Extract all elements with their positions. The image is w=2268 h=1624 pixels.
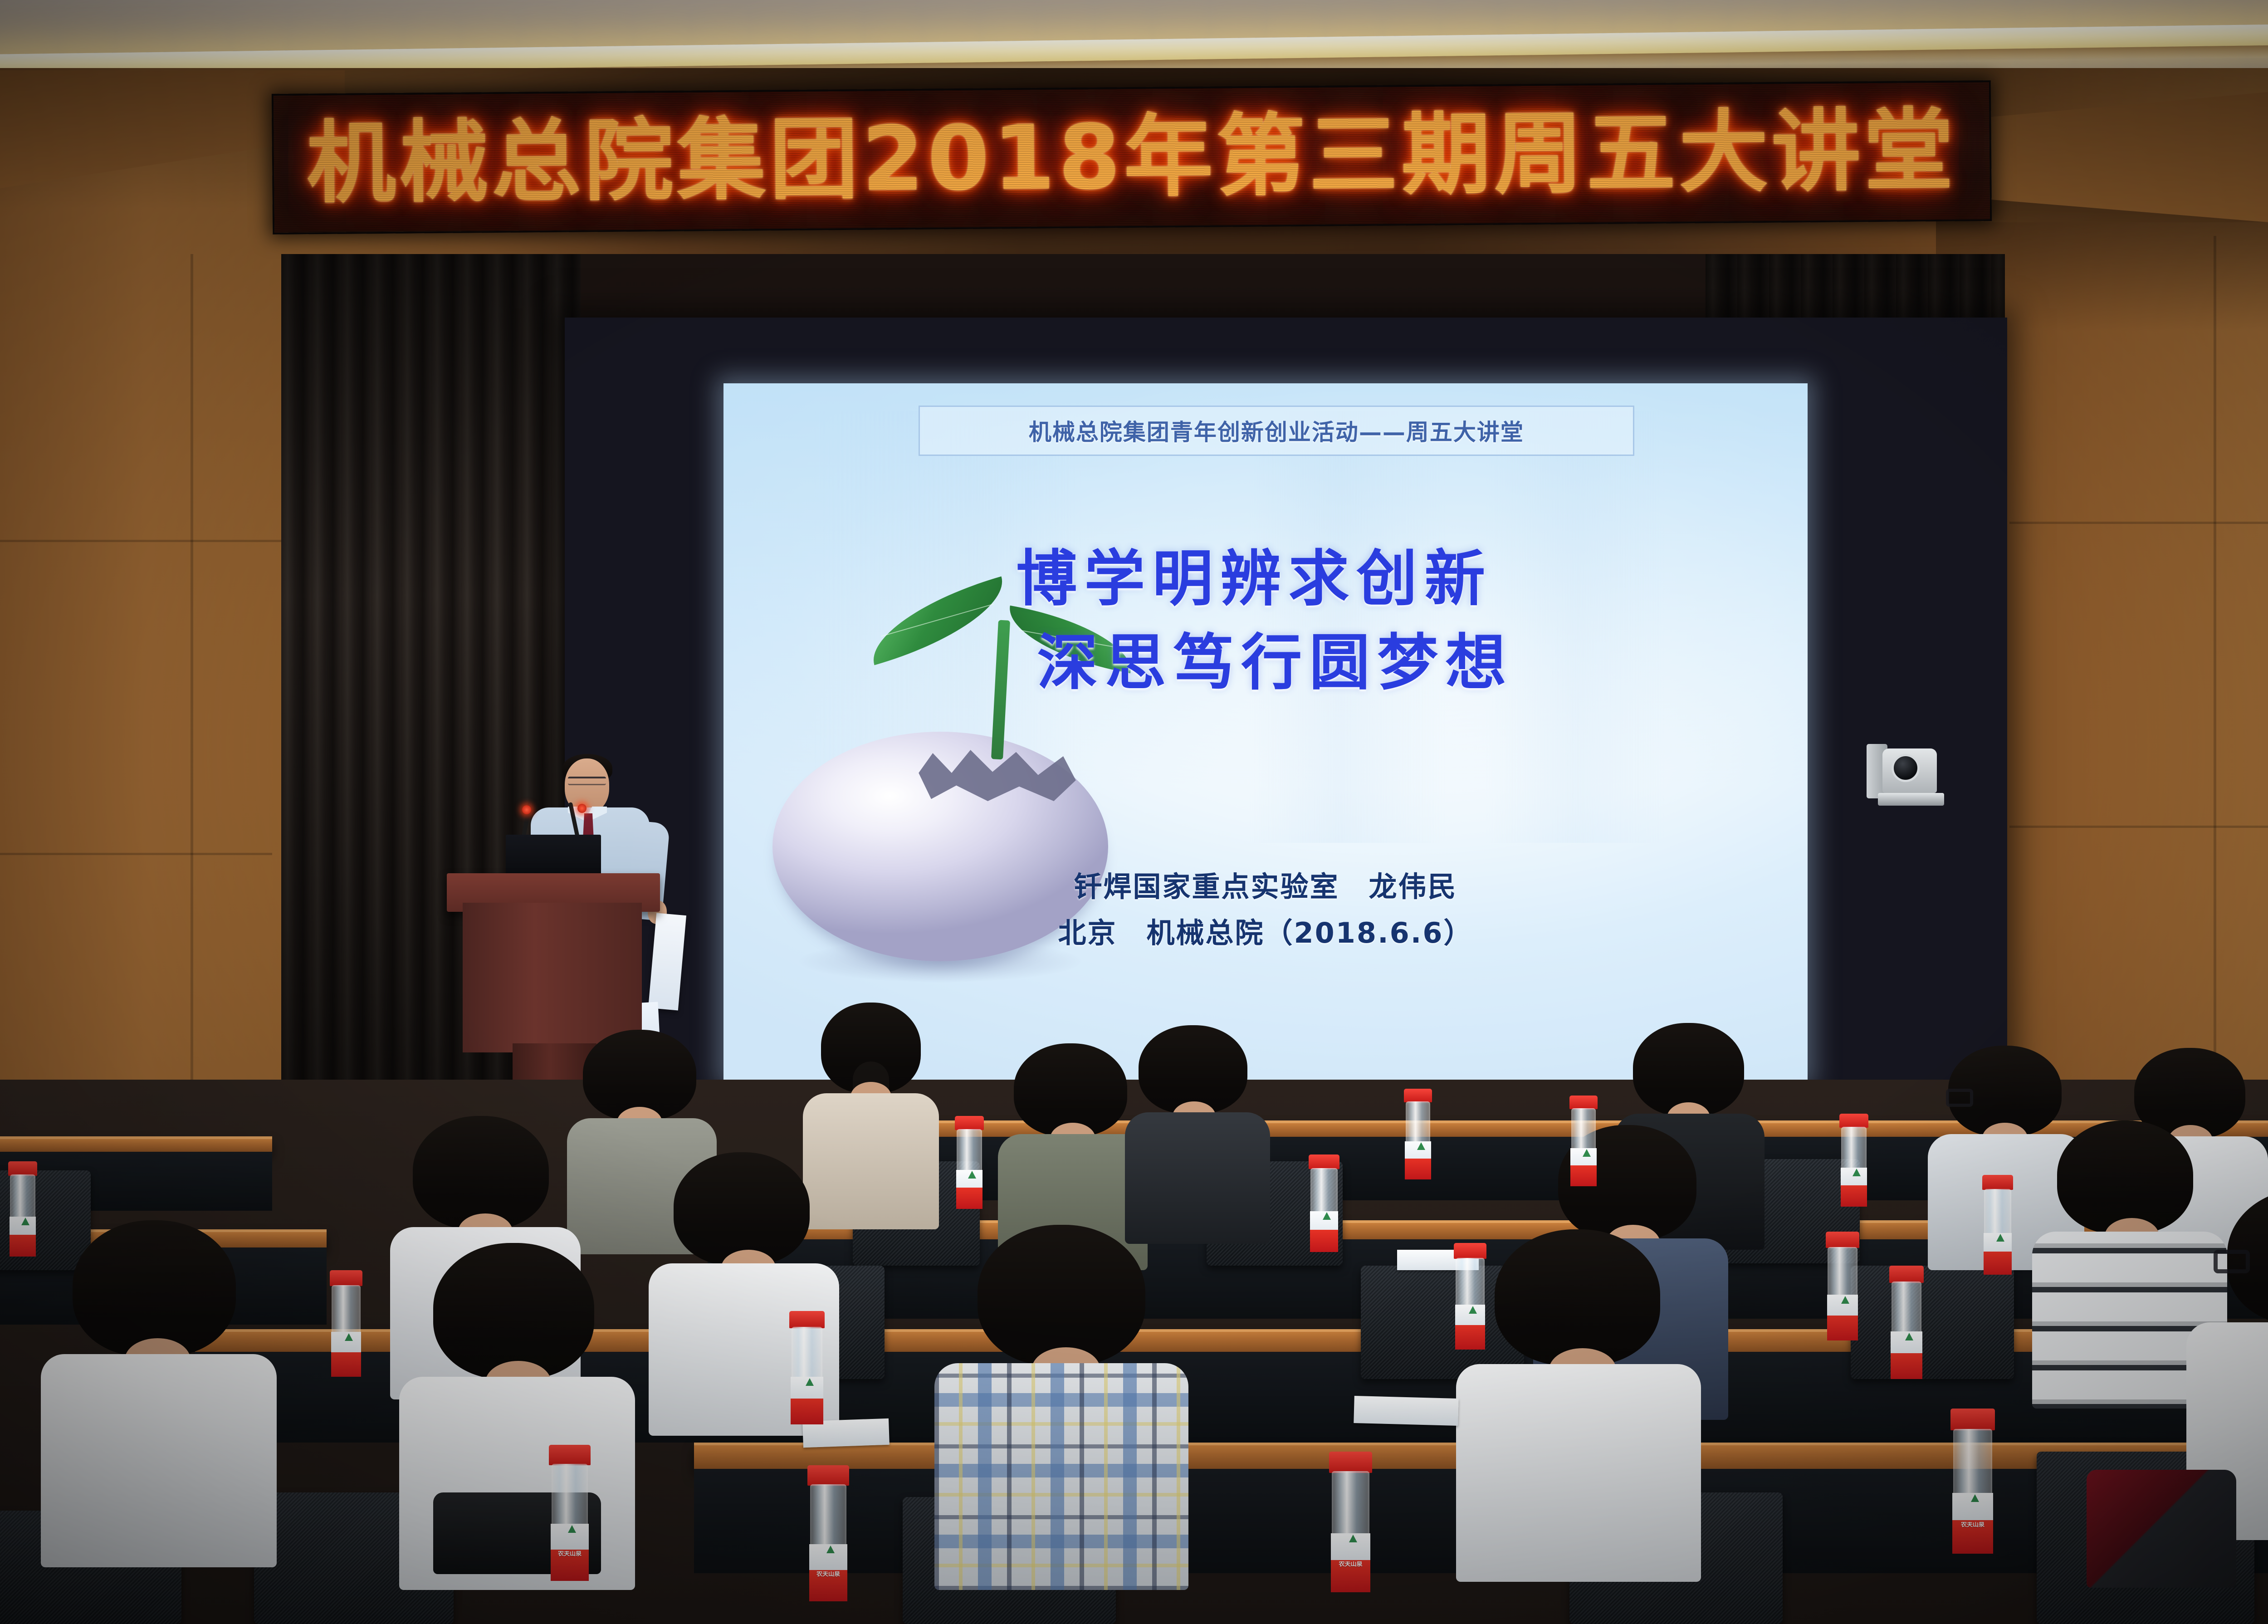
water-bottle: [1569, 1096, 1598, 1186]
bottle-label-red: [1570, 1165, 1596, 1186]
slide-footer-line-1: 钎焊国家重点实验室 龙伟民: [723, 864, 1808, 910]
mountain-logo-icon: [21, 1218, 29, 1225]
led-banner-panel: 机械总院集团2018年第三期周五大讲堂: [272, 80, 1992, 235]
bottle-label-red: [1984, 1252, 2012, 1275]
attendee-torso: [1456, 1364, 1701, 1582]
mountain-logo-icon: [968, 1171, 976, 1179]
water-bottle: [1982, 1175, 2013, 1275]
lecture-hall-scene: 机械总院集团2018年第三期周五大讲堂 机械总院集团青年创新创业活动——周五大讲…: [0, 0, 2268, 1624]
podium-body: [463, 903, 642, 1052]
wall-seam: [0, 853, 272, 855]
bottle-label-red: [1827, 1316, 1858, 1340]
bottle-label-red: [331, 1352, 361, 1377]
water-bottle: [1839, 1114, 1868, 1207]
water-bottle: [8, 1161, 37, 1257]
mountain-logo-icon: [1349, 1535, 1357, 1542]
bottle-cap: [1982, 1175, 2013, 1190]
projected-slide: 机械总院集团青年创新创业活动——周五大讲堂 博学明辨求创新 深思笃行圆梦想 钎焊…: [723, 383, 1808, 1080]
attendee-torso: [41, 1354, 277, 1567]
mountain-logo-icon: [1417, 1142, 1425, 1150]
water-bottle: [1404, 1089, 1432, 1179]
bottle-cap: [1950, 1409, 1995, 1430]
bottle-cap: [807, 1465, 849, 1486]
mountain-logo-icon: [345, 1333, 353, 1341]
bottle-label-red: [10, 1235, 36, 1257]
attendee-head: [73, 1220, 236, 1356]
bottle-cap: [1826, 1232, 1859, 1248]
microphone-led-indicator: [577, 804, 587, 813]
slide-footer-line-2: 北京 机械总院（2018.6.6）: [723, 910, 1808, 956]
water-bottle: 农夫山泉: [549, 1445, 591, 1581]
bottle-cap: [549, 1445, 591, 1465]
desk-row: [0, 1136, 272, 1152]
bottle-label-red: [1891, 1353, 1922, 1379]
slide-footer: 钎焊国家重点实验室 龙伟民 北京 机械总院（2018.6.6）: [723, 864, 1808, 957]
bottle-cap: [1889, 1266, 1924, 1283]
bottle-cap: [1569, 1096, 1598, 1109]
wall-seam: [2009, 826, 2268, 828]
mountain-logo-icon: [826, 1546, 835, 1553]
bottle-brand-label: 农夫山泉: [807, 1571, 849, 1577]
attendee-head: [413, 1116, 549, 1229]
attendee-head: [674, 1152, 810, 1266]
mountain-logo-icon: [1323, 1212, 1331, 1220]
attendee-head: [1495, 1229, 1660, 1365]
glasses-icon: [2214, 1250, 2250, 1273]
ptz-camera-base: [1878, 793, 1944, 806]
attendee-head: [978, 1225, 1145, 1365]
slide-title-line-1: 博学明辨求创新: [1016, 537, 1775, 621]
bottle-cap: [8, 1161, 37, 1176]
mountain-logo-icon: [1469, 1306, 1477, 1314]
chair[interactable]: [1851, 1266, 2014, 1379]
attendee-torso: [803, 1093, 939, 1229]
bottle-cap: [955, 1116, 984, 1130]
bottle-cap: [1309, 1154, 1339, 1169]
water-bottle: [1889, 1266, 1924, 1379]
bottle-label-red: [791, 1399, 823, 1425]
wall-seam: [2009, 522, 2268, 524]
bottle-cap: [789, 1311, 825, 1328]
microphone-led-indicator: [522, 805, 531, 814]
bottle-label-red: [1405, 1159, 1431, 1179]
paper-sheet: [1354, 1396, 1458, 1426]
mountain-logo-icon: [568, 1525, 576, 1533]
mountain-logo-icon: [1971, 1494, 1979, 1502]
mountain-logo-icon: [1853, 1169, 1861, 1176]
bottle-cap: [1329, 1452, 1372, 1473]
water-bottle: 农夫山泉: [807, 1465, 849, 1601]
camera-lens-icon: [1892, 754, 1920, 782]
mountain-logo-icon: [1905, 1333, 1913, 1340]
mountain-logo-icon: [1583, 1149, 1591, 1157]
podium-laptop: [506, 835, 601, 878]
water-bottle: [955, 1116, 984, 1209]
backpack-red: [2087, 1470, 2236, 1588]
water-bottle: [330, 1270, 362, 1377]
wall-seam: [191, 254, 193, 1098]
water-bottle: [1309, 1154, 1339, 1252]
slide-title-line-2: 深思笃行圆梦想: [1037, 621, 1775, 704]
led-banner-text: 机械总院集团2018年第三期周五大讲堂: [274, 106, 1989, 209]
slide-header-text: 机械总院集团青年创新创业活动——周五大讲堂: [920, 414, 1633, 447]
water-bottle: 农夫山泉: [1329, 1452, 1372, 1592]
attendee-torso: [1125, 1112, 1270, 1244]
slide-header-box: 机械总院集团青年创新创业活动——周五大讲堂: [919, 406, 1634, 456]
water-bottle: [1826, 1232, 1859, 1340]
bottle-brand-label: 农夫山泉: [1950, 1522, 1995, 1528]
mountain-logo-icon: [806, 1378, 814, 1386]
attendee-head: [1139, 1025, 1247, 1114]
bottle-brand-label: 农夫山泉: [549, 1551, 591, 1557]
bottle-cap: [1839, 1114, 1868, 1128]
bottle-cap: [1454, 1243, 1486, 1259]
glasses-icon: [1946, 1089, 1973, 1107]
wall-seam: [2214, 236, 2216, 1098]
attendee-head: [2057, 1120, 2193, 1234]
mountain-logo-icon: [1841, 1296, 1849, 1304]
bottle-cap: [1404, 1089, 1432, 1102]
bottle-brand-label: 农夫山泉: [1329, 1561, 1372, 1567]
water-bottle: [1454, 1243, 1486, 1350]
attendee-head: [433, 1243, 594, 1379]
bottle-label-red: [956, 1188, 983, 1209]
bottle-label-red: [1455, 1325, 1485, 1350]
mountain-logo-icon: [1996, 1234, 2004, 1242]
glasses-icon: [568, 777, 606, 785]
bottle-label-red: [1310, 1230, 1339, 1252]
water-bottle: [789, 1311, 825, 1424]
wall-seam: [0, 540, 290, 542]
bottle-label-red: [1841, 1185, 1867, 1207]
attendee-torso: [934, 1363, 1188, 1590]
water-bottle: 农夫山泉: [1950, 1409, 1995, 1554]
bottle-cap: [330, 1270, 362, 1286]
slide-title: 博学明辨求创新 深思笃行圆梦想: [1016, 537, 1775, 704]
